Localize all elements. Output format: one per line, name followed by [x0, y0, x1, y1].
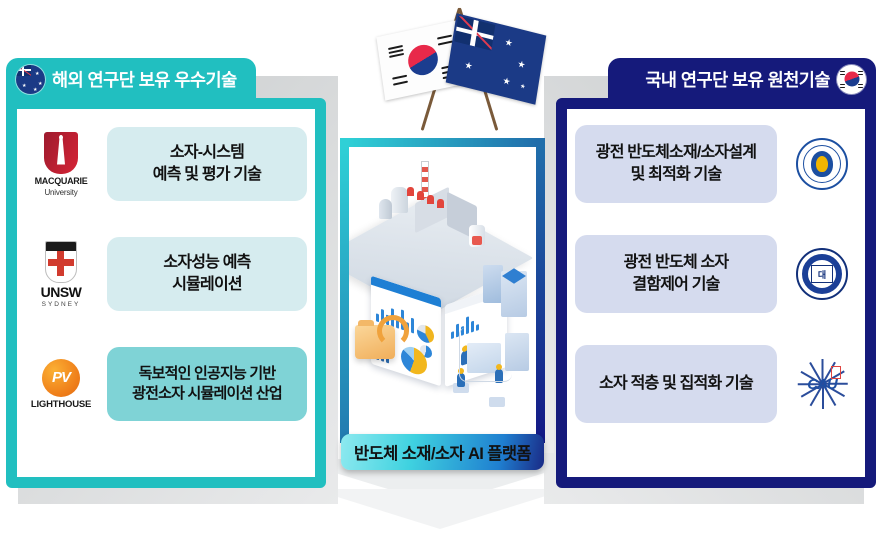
ajou-university-seal	[783, 138, 861, 190]
cau-red-box-icon	[831, 366, 841, 379]
lock-icon	[377, 315, 409, 347]
tech-chip[interactable]: 광전 반도체 소자 결함제어 기술	[575, 235, 777, 313]
tech-row: PV LIGHTHOUSE 독보적인 인공지능 기반 광전소자 시뮬레이션 산업	[17, 329, 315, 439]
ajou-seal-icon	[796, 138, 848, 190]
tech-line1: 소자-시스템	[170, 144, 244, 161]
tech-line2: 및 최적화 기술	[631, 166, 722, 183]
tech-chip[interactable]: 소자-시스템 예측 및 평가 기술	[107, 127, 307, 201]
silo-icon	[391, 187, 408, 213]
server-rack-icon	[483, 265, 503, 303]
overseas-panel-header: ★ ★ ★ ★ 해외 연구단 보유 우수기술	[6, 58, 256, 100]
chungang-university-logo: CAU	[783, 358, 861, 410]
union-jack-icon	[454, 16, 495, 51]
unsw-sydney-logo: UNSW SYDNEY	[21, 241, 101, 308]
hanyang-seal-icon: 대	[796, 248, 848, 300]
macquarie-shield-icon	[44, 132, 78, 174]
tech-row: 광전 반도체소재/소자설계 및 최적화 기술	[567, 109, 865, 219]
pv-lighthouse-mark-icon: PV	[42, 359, 80, 397]
crossed-flags: ★ ★ ★ ★ ★	[372, 2, 540, 127]
korea-flag-badge-icon	[837, 65, 866, 94]
logo-label-line1: MACQUARIE	[35, 176, 88, 186]
tech-row: 소자 적층 및 집적화 기술	[567, 329, 865, 439]
tech-line1: 광전 반도체 소자	[624, 254, 729, 271]
australia-flag: ★ ★ ★ ★ ★	[446, 13, 547, 104]
tech-chip[interactable]: 독보적인 인공지능 기반 광전소자 시뮬레이션 산업	[107, 347, 307, 421]
macquarie-university-logo: MACQUARIE University	[21, 132, 101, 197]
domestic-panel-title: 국내 연구단 보유 원천기술	[645, 67, 830, 92]
tech-row: MACQUARIE University 소자-시스템 예측 및 평가 기술	[17, 109, 315, 219]
taegeuk-symbol	[406, 42, 440, 78]
tech-chip-text: 광전 반도체 소자 결함제어 기술	[624, 252, 729, 295]
infographic-canvas: ★ ★ ★ ★ ★ ★ ★ ★ ★ 해외 연구단 보유 우수기술 MACQUAR	[0, 0, 880, 533]
australia-flag-badge-icon: ★ ★ ★ ★	[16, 65, 45, 94]
network-node-icon	[489, 397, 505, 407]
unsw-shield-icon	[45, 241, 77, 283]
domestic-panel-header: 국내 연구단 보유 원천기술	[608, 58, 876, 100]
logo-label-line2: LIGHTHOUSE	[31, 399, 91, 410]
cau-logo-icon: CAU	[796, 358, 848, 410]
smart-factory-ai-platform-isometric	[349, 147, 536, 434]
tech-chip-text: 소자-시스템 예측 및 평가 기술	[153, 142, 261, 185]
ai-platform-label-text: 반도체 소재/소자 AI 플랫폼	[354, 440, 531, 464]
tech-line2: 시뮬레이션	[172, 276, 242, 293]
tech-chip[interactable]: 광전 반도체소재/소자설계 및 최적화 기술	[575, 125, 777, 203]
tech-line1: 독보적인 인공지능 기반	[139, 365, 276, 382]
tech-line2: 예측 및 평가 기술	[153, 166, 261, 183]
tech-chip-text: 소자성능 예측 시뮬레이션	[163, 252, 250, 295]
overseas-panel-body: MACQUARIE University 소자-시스템 예측 및 평가 기술 U…	[6, 98, 326, 488]
tech-line2: 광전소자 시뮬레이션 산업	[132, 385, 282, 402]
tech-chip-text: 광전 반도체소재/소자설계 및 최적화 기술	[596, 142, 756, 185]
tech-chip[interactable]: 소자 적층 및 집적화 기술	[575, 345, 777, 423]
storage-tank-icon	[469, 225, 485, 247]
domestic-panel-body: 광전 반도체소재/소자설계 및 최적화 기술 광전 반도체 소자 결함제어 기술	[556, 98, 876, 488]
logo-label-line1: PV	[52, 369, 70, 386]
ai-platform-frame	[340, 138, 545, 443]
overseas-panel-title: 해외 연구단 보유 우수기술	[52, 67, 237, 92]
ai-platform-label[interactable]: 반도체 소재/소자 AI 플랫폼	[341, 434, 544, 470]
tech-line2: 결함제어 기술	[632, 276, 719, 293]
chevron-arrow-inner	[312, 489, 568, 529]
ai-platform-panel	[340, 138, 545, 443]
hanyang-university-seal: 대	[783, 248, 861, 300]
tech-line1: 소자성능 예측	[163, 254, 250, 271]
ai-platform-illustration	[349, 147, 536, 434]
domestic-research-panel: 국내 연구단 보유 원천기술 광전 반도체소재/소자설계 및 최적화 기술	[556, 58, 876, 488]
tech-chip[interactable]: 소자성능 예측 시뮬레이션	[107, 237, 307, 311]
tech-line1: 소자 적층 및 집적화 기술	[599, 375, 753, 392]
tech-chip-text: 소자 적층 및 집적화 기술	[599, 373, 753, 395]
silo-icon	[379, 199, 392, 219]
tech-row: 광전 반도체 소자 결함제어 기술 대	[567, 219, 865, 329]
logo-label-line2: SYDNEY	[42, 301, 81, 308]
tech-line1: 광전 반도체소재/소자설계	[596, 144, 756, 161]
logo-label-line1: UNSW	[41, 285, 82, 299]
logo-label-line2: University	[44, 188, 77, 197]
overseas-research-panel: ★ ★ ★ ★ 해외 연구단 보유 우수기술 MACQUARIE Univers…	[6, 58, 326, 488]
tech-row: UNSW SYDNEY 소자성능 예측 시뮬레이션	[17, 219, 315, 329]
pv-lighthouse-logo: PV LIGHTHOUSE	[21, 359, 101, 410]
seal-mark-text: 대	[811, 265, 833, 283]
tech-chip-text: 독보적인 인공지능 기반 광전소자 시뮬레이션 산업	[132, 364, 282, 405]
